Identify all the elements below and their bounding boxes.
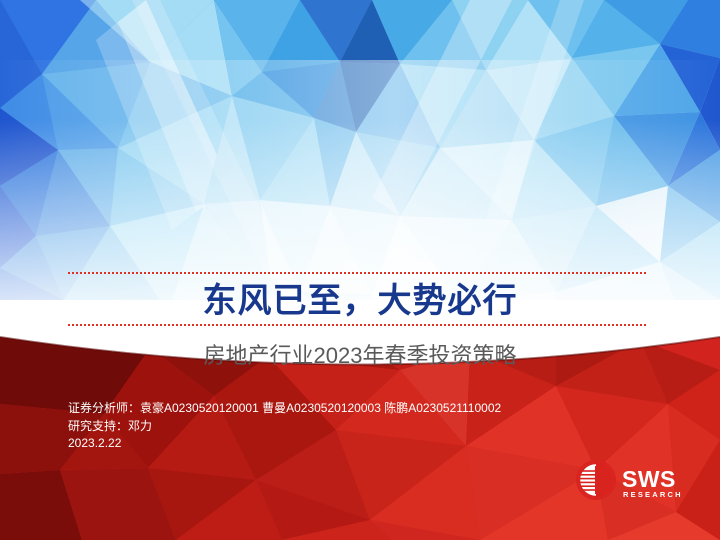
sws-logo-svg: SWS RESEARCH — [575, 459, 695, 503]
sws-circle-mark — [577, 461, 615, 499]
title-rule-top — [68, 272, 646, 274]
title-rule-bottom — [68, 324, 646, 326]
sws-research-logo: SWS RESEARCH — [575, 459, 695, 503]
publication-date: 2023.2.22 — [68, 435, 501, 453]
presentation-slide: 东风已至，大势必行 房地产行业2023年春季投资策略 证券分析师：袁豪A0230… — [0, 0, 720, 540]
sws-wordmark: SWS — [622, 466, 676, 492]
sws-tagline: RESEARCH — [623, 490, 683, 499]
analyst-line: 证券分析师：袁豪A0230520120001 曹曼A0230520120003 … — [68, 400, 501, 418]
page-subtitle: 房地产行业2023年春季投资策略 — [0, 341, 720, 371]
analyst-credits: 证券分析师：袁豪A0230520120001 曹曼A0230520120003 … — [68, 400, 501, 453]
page-title: 东风已至，大势必行 — [0, 280, 720, 322]
research-support-line: 研究支持：邓力 — [68, 418, 501, 436]
